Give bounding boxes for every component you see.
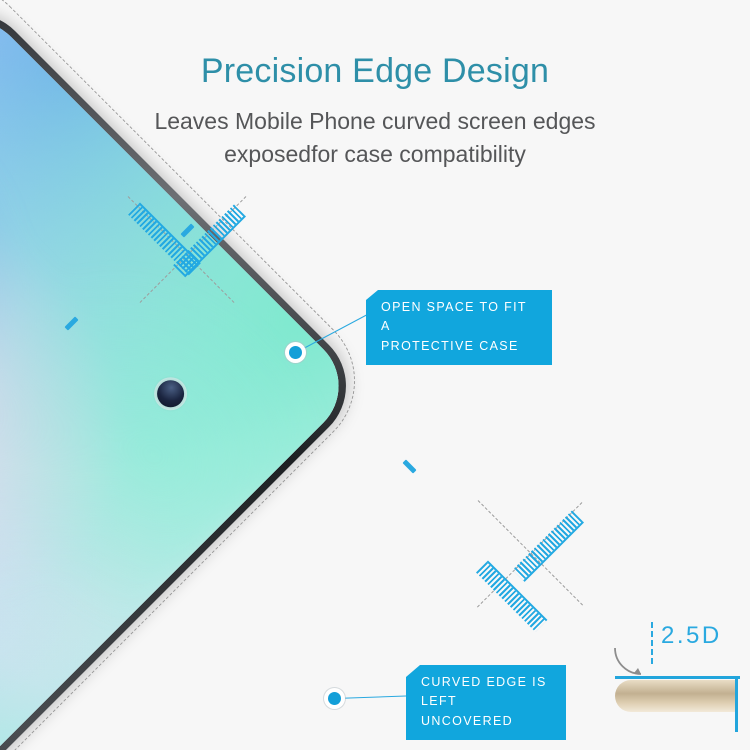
callout-open-space-line2: PROTECTIVE CASE [381, 337, 539, 356]
measurement-marks-top [128, 196, 288, 306]
measurement-marks-bottom [478, 500, 638, 620]
edge-curvature-diagram: 2.5D [615, 618, 750, 750]
callout-open-space-line1: OPEN SPACE TO FIT A [381, 298, 539, 337]
product-marketing-image: OPEN SPACE TO FIT A PROTECTIVE CASE CURV… [0, 0, 750, 750]
callout-curved-edge-line2: LEFT UNCOVERED [421, 692, 553, 731]
callout-curved-edge-line1: CURVED EDGE IS [421, 673, 553, 692]
edge-tick-right [402, 459, 416, 473]
page-subtitle-line1: Leaves Mobile Phone curved screen edges [0, 105, 750, 138]
callout-anchor-bottom [328, 692, 341, 705]
edge-right-marker [735, 676, 738, 732]
page-title: Precision Edge Design [0, 52, 750, 91]
header-block: Precision Edge Design Leaves Mobile Phon… [0, 0, 750, 170]
glass-edge-cross-section [615, 680, 737, 712]
callout-curved-edge: CURVED EDGE IS LEFT UNCOVERED [406, 665, 566, 740]
callout-anchor-top [289, 346, 302, 359]
ruler-hatch-b [173, 204, 246, 277]
page-subtitle-line2: exposedfor case compatibility [0, 138, 750, 171]
edge-baseline [615, 676, 740, 679]
callout-leader-bottom [335, 695, 413, 699]
callout-open-space: OPEN SPACE TO FIT A PROTECTIVE CASE [366, 290, 552, 365]
page-subtitle: Leaves Mobile Phone curved screen edges … [0, 105, 750, 170]
edge-curvature-label: 2.5D [661, 622, 722, 650]
